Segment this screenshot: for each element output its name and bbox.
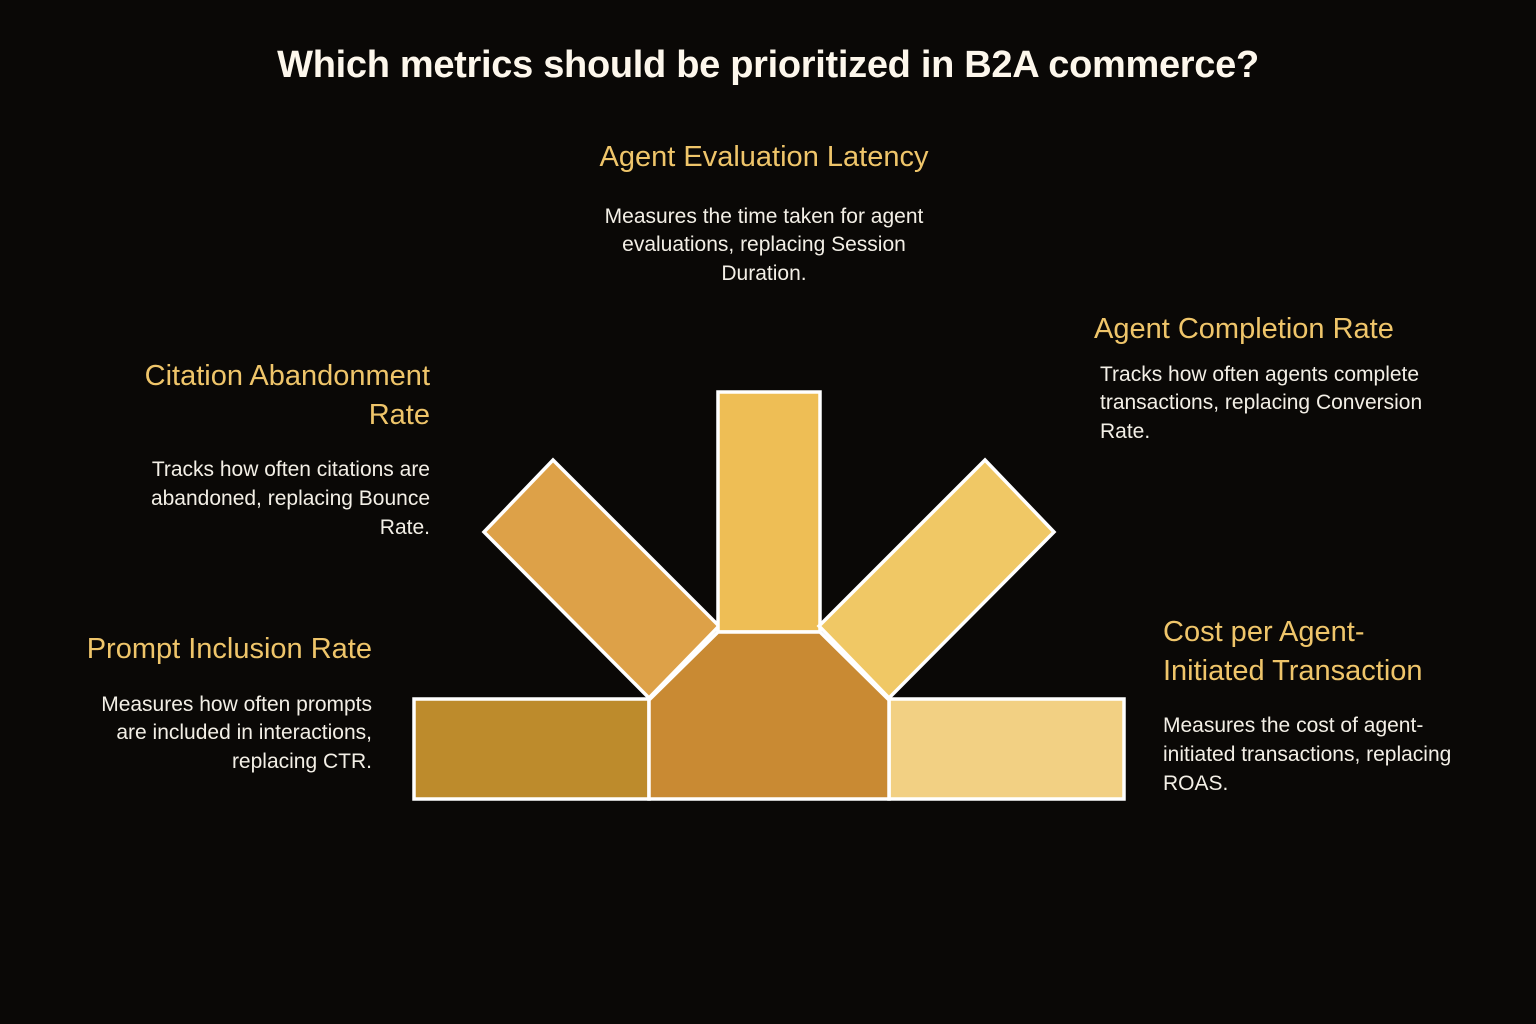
metric-description-agent-evaluation-latency: Measures the time taken for agent evalua…: [578, 203, 950, 289]
petal-prompt-inclusion-rate: [414, 699, 649, 799]
metric-title-citation-abandonment-rate: Citation Abandonment Rate: [142, 357, 430, 434]
metric-description-prompt-inclusion-rate: Measures how often prompts are included …: [70, 691, 372, 777]
page-title: Which metrics should be prioritized in B…: [0, 44, 1536, 87]
metric-description-agent-completion-rate: Tracks how often agents complete transac…: [1094, 361, 1424, 447]
central-hub: [649, 632, 889, 799]
petal-citation-abandonment-rate: [484, 460, 719, 698]
metric-title-cost-per-agent-initiated-transaction: Cost per Agent-Initiated Transaction: [1163, 613, 1463, 690]
petal-cost-per-agent-initiated-transaction: [889, 699, 1124, 799]
metric-description-citation-abandonment-rate: Tracks how often citations are abandoned…: [142, 456, 430, 542]
petal-agent-completion-rate: [819, 460, 1054, 698]
petal-agent-evaluation-latency: [718, 392, 820, 632]
metric-title-prompt-inclusion-rate: Prompt Inclusion Rate: [70, 630, 372, 669]
metric-block-prompt-inclusion-rate: Prompt Inclusion Rate Measures how often…: [70, 630, 372, 777]
metric-block-agent-evaluation-latency: Agent Evaluation Latency Measures the ti…: [578, 138, 950, 289]
metric-block-agent-completion-rate: Agent Completion Rate Tracks how often a…: [1094, 310, 1424, 447]
metric-title-agent-evaluation-latency: Agent Evaluation Latency: [578, 138, 950, 177]
metric-title-agent-completion-rate: Agent Completion Rate: [1094, 310, 1424, 349]
metric-description-cost-per-agent-initiated-transaction: Measures the cost of agent-initiated tra…: [1163, 712, 1463, 798]
metric-block-citation-abandonment-rate: Citation Abandonment Rate Tracks how oft…: [142, 357, 430, 542]
metric-block-cost-per-agent-initiated-transaction: Cost per Agent-Initiated Transaction Mea…: [1163, 613, 1463, 798]
